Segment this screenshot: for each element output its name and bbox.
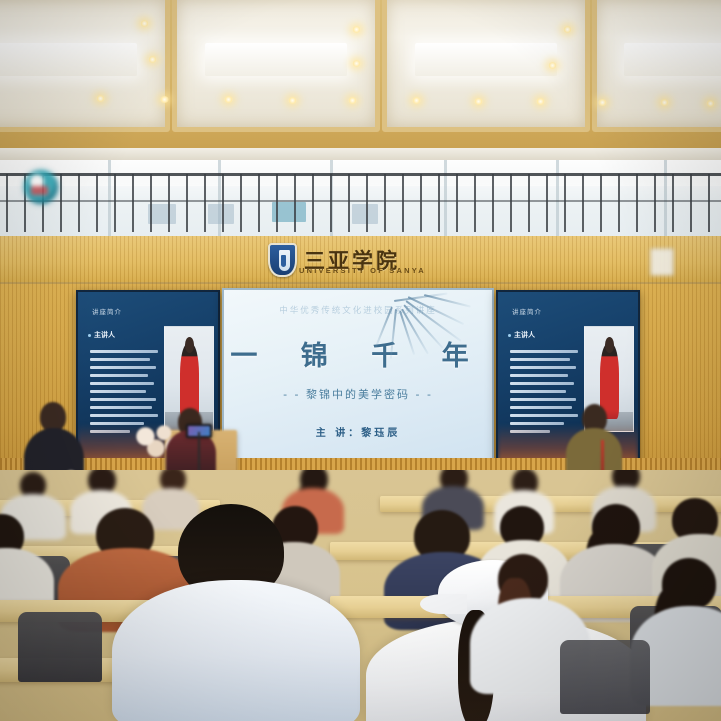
downlight-icon (706, 100, 715, 107)
ceiling-coffer-panel (382, 0, 590, 132)
downlight-icon (96, 95, 105, 102)
downlight-icon (563, 26, 572, 33)
main-projection-screen: 中华优秀传统文化进校园系列讲座 一 锦 千 年 - - 黎锦中的美学密码 - -… (222, 288, 494, 472)
downlight-icon (140, 20, 149, 27)
downlight-icon (224, 96, 233, 103)
railing-top-bar (0, 173, 721, 176)
student-chair (560, 640, 650, 714)
audience-seating: BEGIN CEING (0, 470, 721, 721)
mezzanine-balcony (0, 160, 721, 238)
ceiling (0, 0, 721, 158)
downlight-icon (548, 62, 557, 69)
window-mullion (556, 160, 559, 238)
window-mullion (218, 160, 221, 238)
ceiling-coffer-panel (592, 0, 721, 132)
background-furniture (148, 204, 176, 224)
shield-crest-icon (268, 243, 297, 277)
downlight-icon (660, 99, 669, 106)
downlight-icon (288, 97, 297, 104)
background-furniture (208, 204, 234, 224)
ceiling-coffer-panel (172, 0, 380, 132)
downlight-icon (348, 97, 357, 104)
downlight-icon (148, 56, 157, 63)
window-mullion (444, 160, 447, 238)
downlight-icon (598, 99, 607, 106)
railing-mid-bar (0, 200, 721, 202)
side-slide-bullet: 主讲人 (514, 330, 535, 340)
circular-teal-logo-icon (24, 170, 58, 204)
window-mullion (108, 160, 111, 238)
slide-title: 一 锦 千 年 (230, 334, 485, 373)
slide-presenter: 主 讲：黎珏辰 (316, 424, 400, 439)
slide-subtitle: - - 黎锦中的美学密码 - - (283, 386, 433, 402)
background-furniture (352, 204, 378, 224)
side-slide-header: 讲座简介 (512, 306, 542, 316)
downlight-icon (474, 98, 483, 105)
downlight-icon (160, 96, 169, 103)
downlight-icon (536, 98, 545, 105)
window-mullion (664, 160, 667, 238)
downlight-icon (352, 60, 361, 67)
side-slide-header: 讲座简介 (92, 306, 122, 316)
lecture-hall-photo: 三亚学院 UNIVERSITY OF SANYA 讲座简介 主讲人 中华优秀传统… (0, 0, 721, 721)
downlight-icon (412, 97, 421, 104)
student-chair (18, 612, 102, 682)
downlight-icon (352, 26, 361, 33)
wall-sign (650, 248, 674, 276)
side-slide-bullet: 主讲人 (94, 330, 115, 340)
university-name-en: UNIVERSITY OF SANYA (299, 266, 426, 275)
